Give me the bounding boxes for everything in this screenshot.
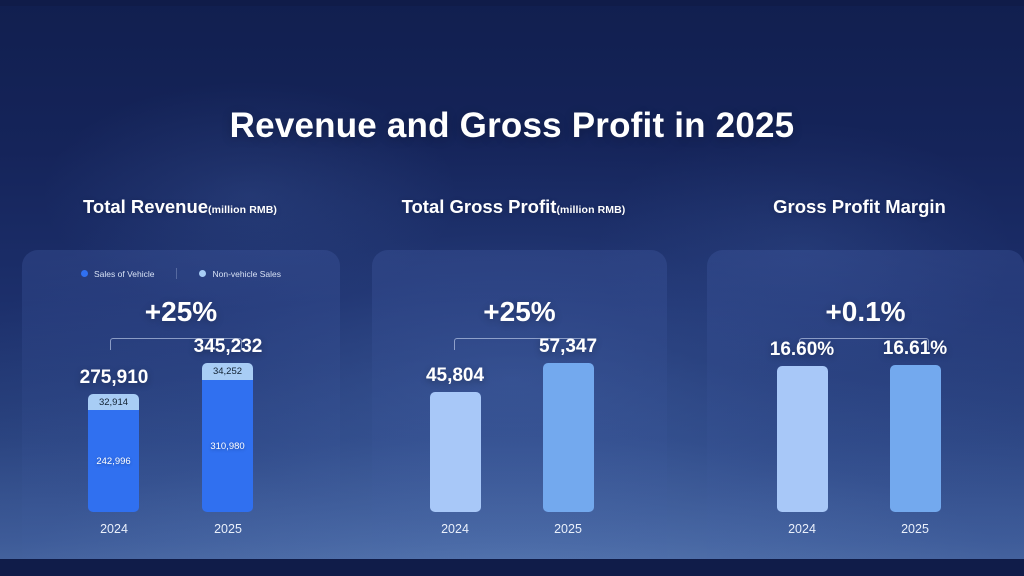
panel-card: +0.1% 16.60% 2024 16.61% 2025 bbox=[707, 250, 1024, 558]
bar-total-label-2024: 45,804 bbox=[375, 365, 535, 387]
chart-plot-area: 45,804 2024 57,347 2025 bbox=[372, 250, 667, 558]
bar-segment-label: 32,914 bbox=[99, 397, 128, 408]
panel-heading-unit: (million RMB) bbox=[556, 204, 625, 216]
bar-segment-non-vehicle: 34,252 bbox=[202, 363, 253, 380]
bar-year-label-2025: 2025 bbox=[168, 522, 288, 536]
panel-heading-unit: (million RMB) bbox=[208, 204, 277, 216]
bar-segment-vehicle: 310,980 bbox=[202, 380, 253, 512]
chart-plot-area: 16.60% 2024 16.61% 2025 bbox=[707, 250, 1024, 558]
bar-segment-label: 34,252 bbox=[213, 366, 242, 377]
panel-total-gross-profit: Total Gross Profit(million RMB) +25% 45,… bbox=[360, 196, 667, 558]
bar-year-label-2025: 2025 bbox=[855, 522, 975, 536]
letterbox-top bbox=[0, 0, 1024, 6]
panel-heading: Total Gross Profit(million RMB) bbox=[360, 196, 667, 218]
panel-heading-text: Total Revenue bbox=[83, 196, 208, 217]
panel-total-revenue: Total Revenue(million RMB) Sales of Vehi… bbox=[0, 196, 360, 558]
panel-heading: Total Revenue(million RMB) bbox=[0, 196, 360, 218]
bar-2024[interactable] bbox=[430, 392, 481, 512]
letterbox-bottom bbox=[0, 559, 1024, 576]
bar-2025[interactable]: 34,252 310,980 bbox=[202, 363, 253, 512]
bar-segment-label: 242,996 bbox=[96, 456, 130, 467]
panel-card: +25% 45,804 2024 57,347 2025 bbox=[372, 250, 667, 558]
bar-year-label-2024: 2024 bbox=[742, 522, 862, 536]
bar-year-label-2024: 2024 bbox=[395, 522, 515, 536]
panel-gross-profit-margin: Gross Profit Margin +0.1% 16.60% 2024 16… bbox=[695, 196, 1024, 558]
bar-2025[interactable] bbox=[543, 363, 594, 512]
bar-2024[interactable] bbox=[777, 366, 828, 512]
bar-year-label-2024: 2024 bbox=[54, 522, 174, 536]
slide-canvas: Revenue and Gross Profit in 2025 Total R… bbox=[0, 0, 1024, 576]
chart-plot-area: 32,914 242,996 275,910 2024 34,252 310,9… bbox=[22, 250, 340, 558]
bar-total-label-2025: 57,347 bbox=[488, 336, 648, 358]
panel-heading-text: Total Gross Profit bbox=[402, 196, 557, 217]
bar-year-label-2025: 2025 bbox=[508, 522, 628, 536]
panel-heading-text: Gross Profit Margin bbox=[773, 196, 946, 217]
bar-segment-label: 310,980 bbox=[210, 441, 244, 452]
page-title: Revenue and Gross Profit in 2025 bbox=[0, 106, 1024, 146]
bar-2024[interactable]: 32,914 242,996 bbox=[88, 394, 139, 512]
panel-heading: Gross Profit Margin bbox=[695, 196, 1024, 218]
bar-segment-non-vehicle: 32,914 bbox=[88, 394, 139, 410]
bar-total-label-2025: 345,232 bbox=[148, 336, 308, 358]
panel-card: Sales of Vehicle Non-vehicle Sales +25% … bbox=[22, 250, 340, 558]
bar-2025[interactable] bbox=[890, 365, 941, 512]
bar-segment-vehicle: 242,996 bbox=[88, 410, 139, 512]
bar-total-label-2025: 16.61% bbox=[835, 338, 995, 360]
bar-total-label-2024: 275,910 bbox=[34, 367, 194, 389]
